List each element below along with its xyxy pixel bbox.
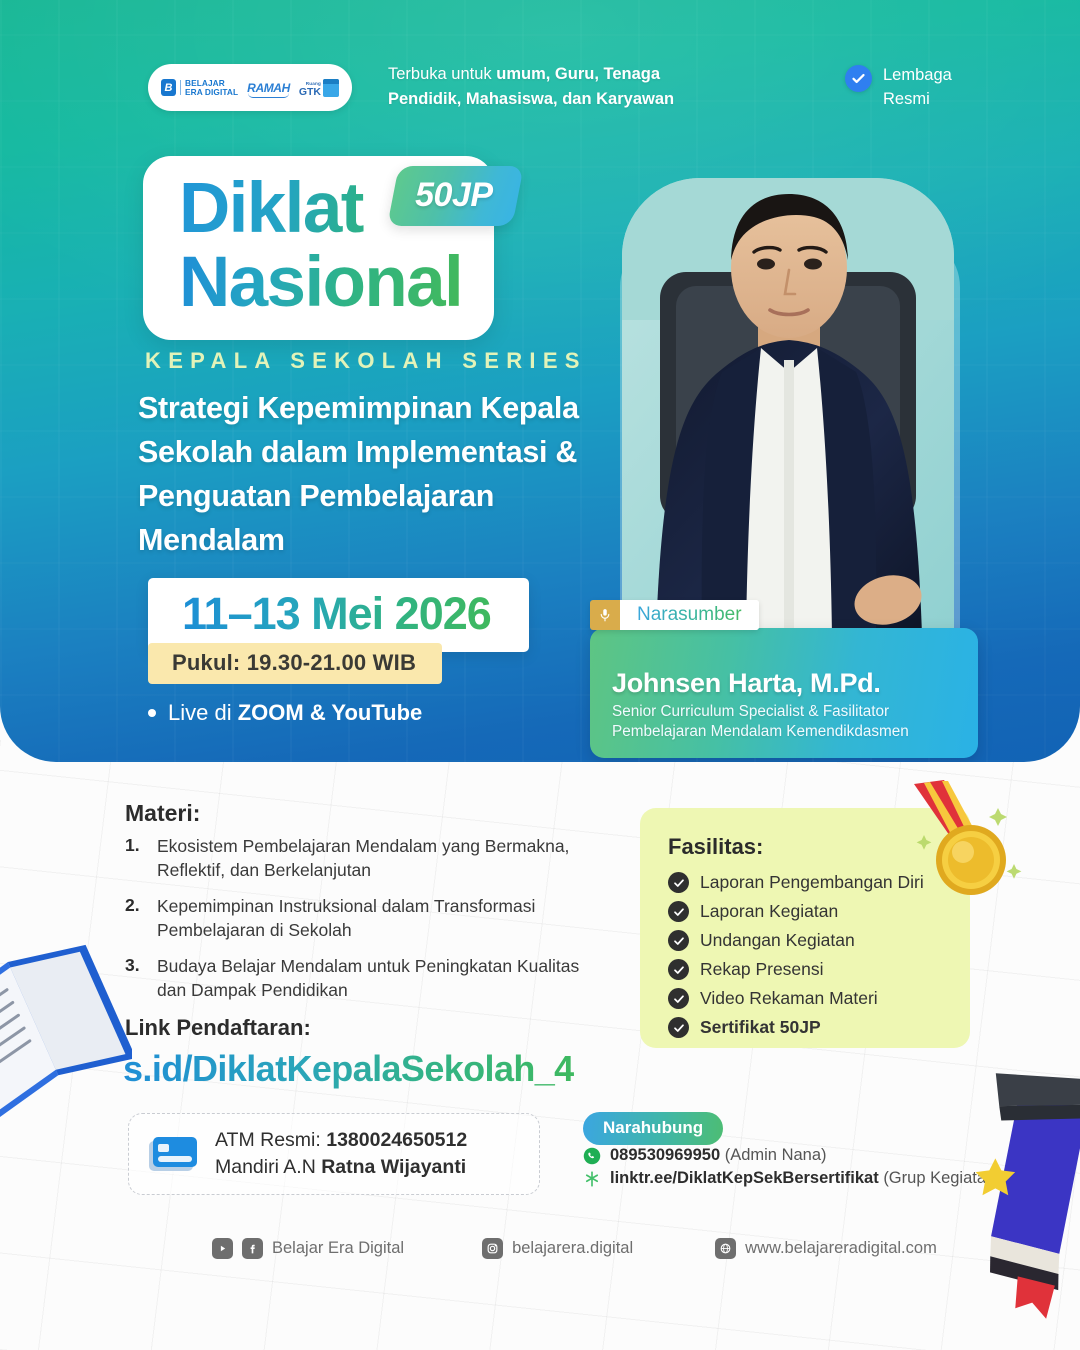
list-item: Undangan Kegiatan xyxy=(668,930,950,951)
fasilitas-text: Undangan Kegiatan xyxy=(700,930,855,951)
list-item: Rekap Presensi xyxy=(668,959,950,980)
speaker-name: Johnsen Harta, M.Pd. xyxy=(612,668,960,699)
logo-ruang-gtk: Ruang GTK xyxy=(299,79,339,97)
logo-belajar-era-digital: B BELAJAR ERA DIGITAL xyxy=(161,79,238,97)
check-circle-icon xyxy=(668,1017,689,1038)
payment-account-number: 1380024650512 xyxy=(326,1129,467,1151)
materi-list: 1. Ekosistem Pembelajaran Mendalam yang … xyxy=(125,834,595,1014)
official-line2: Resmi xyxy=(883,87,952,111)
website-icon xyxy=(715,1238,736,1259)
verified-check-icon xyxy=(845,65,872,92)
list-item: Sertifikat 50JP xyxy=(668,1017,950,1038)
list-item: 1. Ekosistem Pembelajaran Mendalam yang … xyxy=(125,834,595,882)
payment-account-name: Ratna Wijayanti xyxy=(321,1156,466,1178)
footer-item-instagram[interactable]: belajarera.digital xyxy=(482,1238,633,1259)
fasilitas-text: Rekap Presensi xyxy=(700,959,824,980)
materi-text: Ekosistem Pembelajaran Mendalam yang Ber… xyxy=(157,834,595,882)
footer-label: www.belajareradigital.com xyxy=(745,1239,937,1258)
fasilitas-text: Laporan Kegiatan xyxy=(700,901,838,922)
official-institution-badge: Lembaga Resmi xyxy=(845,63,952,111)
graduation-cap-book-icon xyxy=(955,1070,1080,1350)
event-time: Pukul: 19.30-21.00 WIB xyxy=(172,650,416,675)
bed-line2: ERA DIGITAL xyxy=(185,88,238,97)
speaker-label-wrap: Narasumber xyxy=(620,600,759,630)
linktree-icon xyxy=(583,1170,601,1188)
partner-logos-pill: B BELAJAR ERA DIGITAL RAMAH Ruang GTK xyxy=(148,64,352,111)
bullet-dot-icon xyxy=(148,709,156,717)
open-book-icon xyxy=(0,930,132,1130)
footer-item-social[interactable]: Belajar Era Digital xyxy=(212,1238,404,1259)
payment-name-line: Mandiri A.N Ratna Wijayanti xyxy=(215,1154,467,1181)
event-date: 11–13 Mei 2026 xyxy=(182,588,491,639)
official-line1: Lembaga xyxy=(883,63,952,87)
payment-info-box: ATM Resmi: 1380024650512 Mandiri A.N Rat… xyxy=(128,1113,540,1195)
footer-label: belajarera.digital xyxy=(512,1239,633,1258)
list-item[interactable]: linktr.ee/DiklatKepSekBersertifikat (Gru… xyxy=(583,1169,1001,1188)
speaker-card: Johnsen Harta, M.Pd. Senior Curriculum S… xyxy=(590,628,978,758)
event-time-card: Pukul: 19.30-21.00 WIB xyxy=(148,643,442,684)
gtk-wordmark: Ruang GTK xyxy=(299,80,321,96)
audience-note: Terbuka untuk umum, Guru, Tenaga Pendidi… xyxy=(388,62,688,112)
contact-text: 089530969950 (Admin Nana) xyxy=(610,1146,827,1165)
fasilitas-text: Laporan Pengembangan Diri xyxy=(700,872,924,893)
check-circle-icon xyxy=(668,901,689,922)
list-item: Video Rekaman Materi xyxy=(668,988,950,1009)
footer-social-bar: Belajar Era Digital belajarera.digital w… xyxy=(0,1238,1080,1259)
hero-section: B BELAJAR ERA DIGITAL RAMAH Ruang GTK Te… xyxy=(0,0,1080,762)
bed-wordmark: BELAJAR ERA DIGITAL xyxy=(185,79,238,97)
materi-heading: Materi: xyxy=(125,800,200,827)
fasilitas-text: Sertifikat 50JP xyxy=(700,1017,821,1038)
facebook-icon xyxy=(242,1238,263,1259)
logo-ramah: RAMAH xyxy=(247,81,290,95)
payment-bank-label: Mandiri A.N xyxy=(215,1156,321,1178)
medal-icon xyxy=(900,778,1030,908)
contact-value: 089530969950 xyxy=(610,1146,720,1164)
materi-number: 1. xyxy=(125,834,147,882)
microphone-icon xyxy=(590,600,620,630)
live-prefix: Live di xyxy=(168,700,238,725)
list-item: 3. Budaya Belajar Mendalam untuk Peningk… xyxy=(125,954,595,1002)
speaker-role-line1: Senior Curriculum Specialist & Fasilitat… xyxy=(612,702,960,722)
payment-account-line: ATM Resmi: 1380024650512 xyxy=(215,1127,467,1154)
list-item: 2. Kepemimpinan Instruksional dalam Tran… xyxy=(125,894,595,942)
youtube-icon xyxy=(212,1238,233,1259)
footer-item-website[interactable]: www.belajareradigital.com xyxy=(715,1238,937,1259)
fasilitas-text: Video Rekaman Materi xyxy=(700,988,878,1009)
live-platforms: ZOOM & YouTube xyxy=(238,700,423,725)
whatsapp-icon xyxy=(583,1147,601,1165)
registration-url[interactable]: s.id/DiklatKepalaSekolah_4 xyxy=(123,1048,574,1090)
contact-value: linktr.ee/DiklatKepSekBersertifikat xyxy=(610,1169,879,1187)
materi-text: Kepemimpinan Instruksional dalam Transfo… xyxy=(157,894,595,942)
bank-card-icon xyxy=(147,1134,199,1174)
registration-heading: Link Pendaftaran: xyxy=(125,1015,311,1041)
gtk-label: GTK xyxy=(299,86,321,98)
gtk-box-icon xyxy=(323,79,339,97)
check-circle-icon xyxy=(668,872,689,893)
live-platform-note: Live di ZOOM & YouTube xyxy=(148,700,422,726)
speaker-label: Narasumber xyxy=(637,604,742,626)
check-circle-icon xyxy=(668,959,689,980)
contact-text: linktr.ee/DiklatKepSekBersertifikat (Gru… xyxy=(610,1169,1001,1188)
official-label: Lembaga Resmi xyxy=(883,63,952,111)
title-line-2: Nasional xyxy=(179,246,462,320)
bed-monogram-icon: B xyxy=(161,79,176,96)
list-item[interactable]: 089530969950 (Admin Nana) xyxy=(583,1146,1001,1165)
logo-divider xyxy=(180,80,181,95)
footer-label: Belajar Era Digital xyxy=(272,1239,404,1258)
speaker-label-tab: Narasumber xyxy=(590,600,759,630)
speaker-role: Senior Curriculum Specialist & Fasilitat… xyxy=(612,702,960,742)
check-circle-icon xyxy=(668,930,689,951)
event-subtitle: Strategi Kepemimpinan Kepala Sekolah dal… xyxy=(138,386,608,562)
flyer-page: B BELAJAR ERA DIGITAL RAMAH Ruang GTK Te… xyxy=(0,0,1080,1350)
contact-note: (Admin Nana) xyxy=(725,1146,827,1164)
event-date-card: 11–13 Mei 2026 xyxy=(148,578,529,652)
live-text: Live di ZOOM & YouTube xyxy=(168,700,422,726)
materi-text: Budaya Belajar Mendalam untuk Peningkata… xyxy=(157,954,595,1002)
speaker-role-line2: Pembelajaran Mendalam Kemendikdasmen xyxy=(612,722,960,742)
audience-prefix: Terbuka untuk xyxy=(388,65,496,83)
instagram-icon xyxy=(482,1238,503,1259)
jp-hours-label: 50JP xyxy=(415,176,492,215)
payment-text: ATM Resmi: 1380024650512 Mandiri A.N Rat… xyxy=(215,1127,467,1181)
series-kicker: KEPALA SEKOLAH SERIES xyxy=(145,348,587,374)
payment-label: ATM Resmi: xyxy=(215,1129,326,1151)
contact-list: 089530969950 (Admin Nana) linktr.ee/Dikl… xyxy=(583,1146,1001,1192)
check-circle-icon xyxy=(668,988,689,1009)
contact-badge: Narahubung xyxy=(583,1112,723,1145)
jp-hours-badge: 50JP xyxy=(387,166,524,226)
speaker-photo xyxy=(598,160,978,635)
